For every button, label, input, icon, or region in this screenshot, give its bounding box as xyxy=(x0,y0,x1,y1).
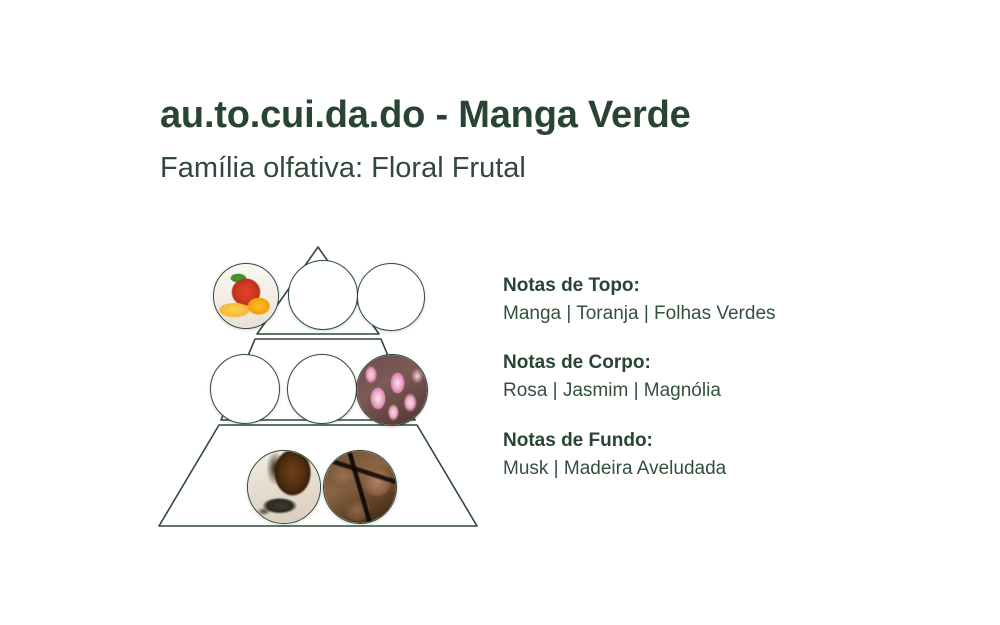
pyramid-circle-manga xyxy=(213,263,279,329)
pyramid-circle-magnolia xyxy=(356,354,428,426)
variant-name: Manga Verde xyxy=(458,94,690,136)
wood-image xyxy=(324,451,396,523)
brand-name: au.to.cui.da.do xyxy=(160,94,425,136)
olfactive-family-subtitle: Família olfativa: Floral Frutal xyxy=(160,152,691,185)
pyramid-circle-toranja xyxy=(288,260,358,330)
note-group-topo: Notas de Topo: Manga | Toranja | Folhas … xyxy=(503,274,903,326)
magnolia-image xyxy=(357,355,427,425)
mango-image xyxy=(214,264,278,328)
note-values-fundo: Musk | Madeira Aveludada xyxy=(503,457,903,482)
title-separator: - xyxy=(425,94,458,136)
musk-image xyxy=(248,451,320,523)
jasmine-image xyxy=(288,355,356,423)
pyramid-circle-rosa xyxy=(210,354,280,424)
grapefruit-image xyxy=(289,261,357,329)
pyramid-circle-madeira xyxy=(323,450,397,524)
note-heading-corpo: Notas de Corpo: xyxy=(503,351,903,375)
fragrance-pyramid xyxy=(150,238,490,538)
header: au.to.cui.da.do - Manga Verde Família ol… xyxy=(160,94,691,185)
rose-image xyxy=(211,355,279,423)
note-heading-fundo: Notas de Fundo: xyxy=(503,429,903,453)
pyramid-circle-folhas-verdes xyxy=(357,263,425,331)
page-title: au.to.cui.da.do - Manga Verde xyxy=(160,94,691,138)
notes-panel: Notas de Topo: Manga | Toranja | Folhas … xyxy=(503,274,903,481)
note-heading-topo: Notas de Topo: xyxy=(503,274,903,298)
note-values-corpo: Rosa | Jasmim | Magnólia xyxy=(503,379,903,404)
note-values-topo: Manga | Toranja | Folhas Verdes xyxy=(503,302,903,327)
green-leaves-image xyxy=(358,264,424,330)
note-group-corpo: Notas de Corpo: Rosa | Jasmim | Magnólia xyxy=(503,351,903,403)
pyramid-circle-musk xyxy=(247,450,321,524)
pyramid-circle-jasmim xyxy=(287,354,357,424)
note-group-fundo: Notas de Fundo: Musk | Madeira Aveludada xyxy=(503,429,903,481)
